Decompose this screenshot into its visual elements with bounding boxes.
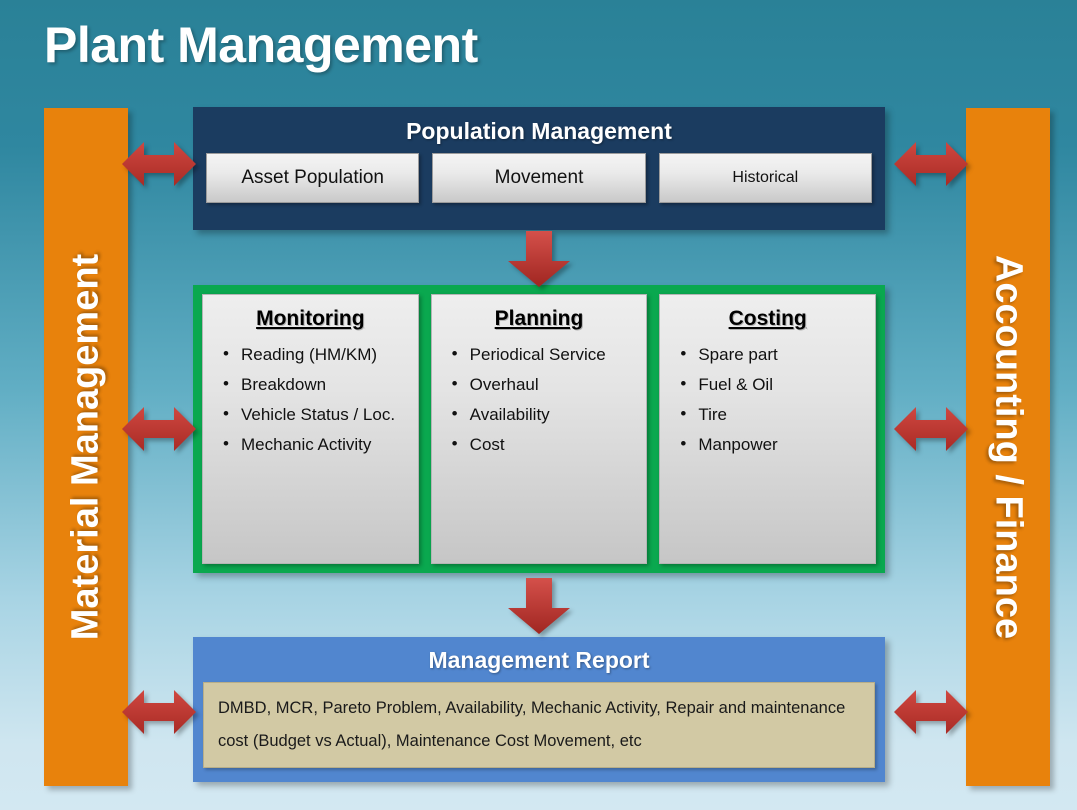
column-planning: Planning Periodical Service Overhaul Ava… bbox=[431, 294, 648, 564]
double-headed-horizontal-arrow-icon bbox=[894, 401, 968, 457]
sidebar-material-management[interactable]: Material Management bbox=[44, 108, 128, 786]
column-monitoring: Monitoring Reading (HM/KM) Breakdown Veh… bbox=[202, 294, 419, 564]
slide-canvas: Plant Management Material Management Acc… bbox=[0, 0, 1077, 810]
column-costing-list: Spare part Fuel & Oil Tire Manpower bbox=[664, 343, 871, 458]
list-item: Fuel & Oil bbox=[678, 373, 865, 397]
sidebar-accounting-finance[interactable]: Accounting / Finance bbox=[966, 108, 1050, 786]
list-item: Manpower bbox=[678, 433, 865, 457]
button-asset-population[interactable]: Asset Population bbox=[206, 153, 419, 203]
population-management-title: Population Management bbox=[193, 107, 885, 145]
list-item: Spare part bbox=[678, 343, 865, 367]
list-item: Vehicle Status / Loc. bbox=[221, 403, 408, 427]
sidebar-material-management-label: Material Management bbox=[65, 254, 108, 640]
down-arrow-icon bbox=[508, 578, 570, 634]
button-historical[interactable]: Historical bbox=[659, 153, 872, 203]
population-button-row: Asset Population Movement Historical bbox=[193, 145, 885, 203]
list-item: Mechanic Activity bbox=[221, 433, 408, 457]
column-planning-title: Planning bbox=[436, 307, 643, 331]
page-title: Plant Management bbox=[44, 16, 478, 74]
list-item: Cost bbox=[450, 433, 637, 457]
column-monitoring-title: Monitoring bbox=[207, 307, 414, 331]
button-movement[interactable]: Movement bbox=[432, 153, 645, 203]
column-costing: Costing Spare part Fuel & Oil Tire Manpo… bbox=[659, 294, 876, 564]
management-report-title: Management Report bbox=[193, 637, 885, 674]
column-monitoring-list: Reading (HM/KM) Breakdown Vehicle Status… bbox=[207, 343, 414, 458]
down-arrow-icon bbox=[508, 231, 570, 287]
management-report-panel: Management Report DMBD, MCR, Pareto Prob… bbox=[193, 637, 885, 782]
list-item: Reading (HM/KM) bbox=[221, 343, 408, 367]
list-item: Periodical Service bbox=[450, 343, 637, 367]
management-report-body: DMBD, MCR, Pareto Problem, Availability,… bbox=[203, 682, 875, 768]
double-headed-horizontal-arrow-icon bbox=[894, 684, 968, 740]
double-headed-horizontal-arrow-icon bbox=[894, 136, 968, 192]
list-item: Overhaul bbox=[450, 373, 637, 397]
list-item: Tire bbox=[678, 403, 865, 427]
sidebar-accounting-finance-label: Accounting / Finance bbox=[987, 255, 1030, 639]
double-headed-horizontal-arrow-icon bbox=[122, 684, 196, 740]
list-item: Breakdown bbox=[221, 373, 408, 397]
column-planning-list: Periodical Service Overhaul Availability… bbox=[436, 343, 643, 458]
double-headed-horizontal-arrow-icon bbox=[122, 136, 196, 192]
double-headed-horizontal-arrow-icon bbox=[122, 401, 196, 457]
list-item: Availability bbox=[450, 403, 637, 427]
population-management-panel: Population Management Asset Population M… bbox=[193, 107, 885, 230]
column-costing-title: Costing bbox=[664, 307, 871, 331]
process-frame: Monitoring Reading (HM/KM) Breakdown Veh… bbox=[193, 285, 885, 573]
